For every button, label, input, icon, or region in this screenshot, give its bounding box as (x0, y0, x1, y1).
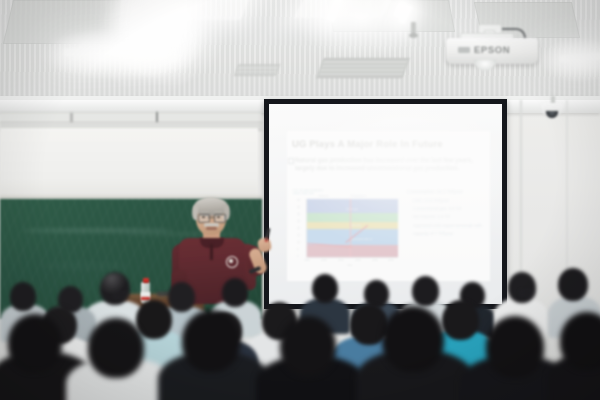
slide-right-column: Consumption: 24.2 Tcf/year LNG: 13.0 Tcf… (407, 188, 487, 239)
bullet-marker-icon (288, 158, 294, 164)
area-band-associated (306, 245, 398, 257)
audience-head (168, 282, 195, 312)
glasses-bridge (208, 217, 214, 218)
band-label: Shale gas (346, 208, 358, 211)
presenter-eye (202, 216, 205, 218)
chart-plot-area: Associated with oil Tight gas Shale gas (306, 199, 398, 257)
slide-title: UG Plays A Major Role In Future (292, 138, 482, 149)
wall-seam (566, 100, 568, 280)
audience-head (442, 300, 479, 340)
audience-head (280, 316, 336, 376)
projector-logo-mark (458, 47, 470, 53)
rail-bracket (70, 112, 73, 123)
x-axis (306, 257, 398, 258)
y-tick: 15 (297, 234, 300, 237)
ceiling-vent (316, 58, 409, 78)
history-projection-divider (350, 199, 351, 257)
y-tick: 10 (297, 241, 300, 244)
chalk-smudge (40, 261, 130, 271)
chart-annotation-history: History (319, 194, 328, 198)
slide-point: Net imports: 1.6 Tcf (407, 213, 487, 221)
x-tick: 2000 (321, 259, 327, 262)
y-tick: 20 (297, 227, 300, 230)
slide-chart: U.S. dry gas production trillion cubic f… (293, 189, 403, 269)
audience-head (382, 306, 444, 372)
audience-head (412, 276, 439, 306)
bottle-cap (143, 278, 149, 283)
y-tick: 35 (297, 206, 300, 209)
x-tick: 2010 (338, 259, 344, 262)
audience-head (10, 282, 36, 311)
audience-head (312, 274, 338, 303)
audience-head (508, 272, 536, 303)
slide-point: Approved LNG export terminals with capac… (407, 222, 487, 239)
audience-head (182, 310, 240, 372)
projection-screen: UG Plays A Major Role In Future Natural … (269, 104, 502, 304)
audience-head (222, 278, 248, 307)
y-axis (306, 199, 307, 257)
x-axis-label: Year (347, 264, 352, 267)
light-fixture-housing (293, 0, 395, 18)
light-fixture-housing (132, 0, 205, 46)
lecture-hall-photo: EPSON UG Plays A Major Role In Future Na… (0, 0, 600, 400)
ceiling-vent (234, 64, 281, 76)
audience-glasses-icon (114, 292, 128, 298)
audience-head (88, 318, 144, 378)
audience-head (558, 268, 588, 301)
x-tick: 1990 (304, 259, 310, 262)
audience-head (486, 316, 544, 378)
presenter-eye (217, 216, 220, 218)
retracted-whiteboard (0, 128, 258, 202)
audience-head (136, 300, 172, 339)
presentation-slide: UG Plays A Major Role In Future Natural … (287, 131, 490, 281)
presenter-shirt-placket (210, 244, 213, 260)
rail-bracket (156, 111, 158, 123)
chalk-smudge (22, 229, 172, 232)
wall-seam (520, 100, 522, 300)
y-tick: 0 (297, 255, 298, 258)
y-tick: 5 (297, 248, 298, 251)
presenter-shirt-logo (226, 256, 238, 268)
x-tick: 2030 (372, 259, 378, 262)
glasses-lens (214, 214, 226, 223)
presenter-mustache (204, 223, 219, 227)
bottle-label (141, 292, 150, 300)
slide-bullet-text: Natural gas production has increased ove… (295, 157, 481, 173)
audience-glasses-icon (520, 290, 534, 296)
x-tick: 2020 (355, 259, 361, 262)
sprinkler-head (411, 22, 416, 35)
audience-head (560, 312, 600, 370)
slide-point: LNG: 13.0 Tcf/year (407, 197, 487, 205)
chalk-smudge (120, 233, 240, 235)
slide-point: Conventional gas: 9.6 Tcf (407, 205, 487, 213)
y-tick: 25 (297, 220, 300, 223)
x-tick: 2040 (388, 259, 394, 262)
band-label: Tight gas (350, 224, 361, 227)
projector-brand-label: EPSON (474, 45, 510, 56)
y-tick: 40 (297, 199, 300, 202)
presenter-mouth (206, 227, 217, 230)
presenter-brow (214, 211, 223, 213)
band-label: Associated with oil (350, 238, 372, 241)
chart-annotation-projections: Projections (351, 194, 366, 198)
audience-head (8, 314, 62, 372)
area-band-tight (306, 213, 398, 222)
slide-point: Consumption: 24.2 Tcf/year (407, 188, 487, 197)
presenter-brow (200, 211, 209, 213)
y-tick: 30 (297, 213, 300, 216)
